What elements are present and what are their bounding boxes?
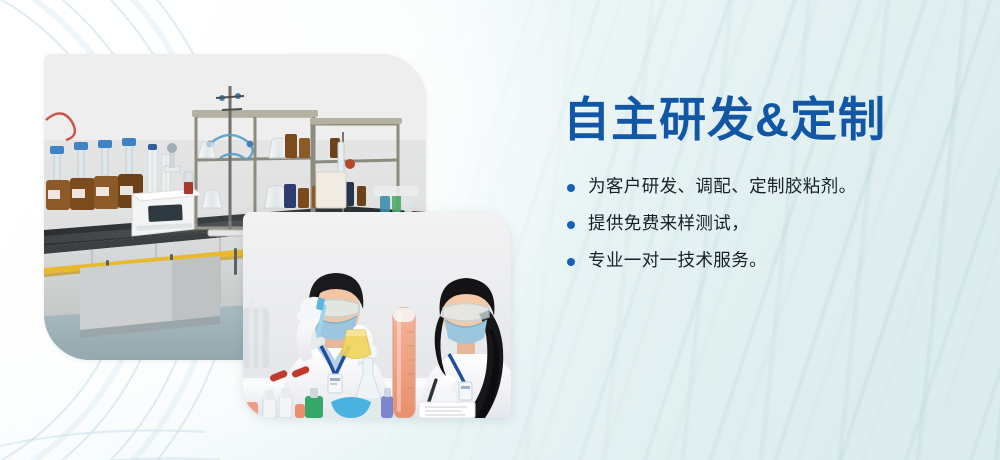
banner-copy: 自主研发&定制 为客户研发、调配、定制胶粘剂。 提供免费来样测试， 专业一对一技… xyxy=(563,92,963,285)
list-item: 专业一对一技术服务。 xyxy=(567,249,963,273)
list-item-label: 为客户研发、调配、定制胶粘剂。 xyxy=(588,175,857,199)
page-title: 自主研发&定制 xyxy=(563,92,963,147)
list-item: 为客户研发、调配、定制胶粘剂。 xyxy=(567,175,963,199)
researchers-testing-photo xyxy=(243,212,511,418)
bullet-dot-icon xyxy=(567,221,575,229)
list-item-label: 专业一对一技术服务。 xyxy=(588,249,767,273)
feature-list: 为客户研发、调配、定制胶粘剂。 提供免费来样测试， 专业一对一技术服务。 xyxy=(567,175,963,272)
list-item-label: 提供免费来样测试， xyxy=(588,212,749,236)
bullet-dot-icon xyxy=(567,184,575,192)
bullet-dot-icon xyxy=(567,258,575,266)
promo-banner: 自主研发&定制 为客户研发、调配、定制胶粘剂。 提供免费来样测试， 专业一对一技… xyxy=(0,0,1000,460)
orange-graduated-tube xyxy=(393,308,415,418)
list-item: 提供免费来样测试， xyxy=(567,212,963,236)
researchers-illustration xyxy=(243,212,511,418)
